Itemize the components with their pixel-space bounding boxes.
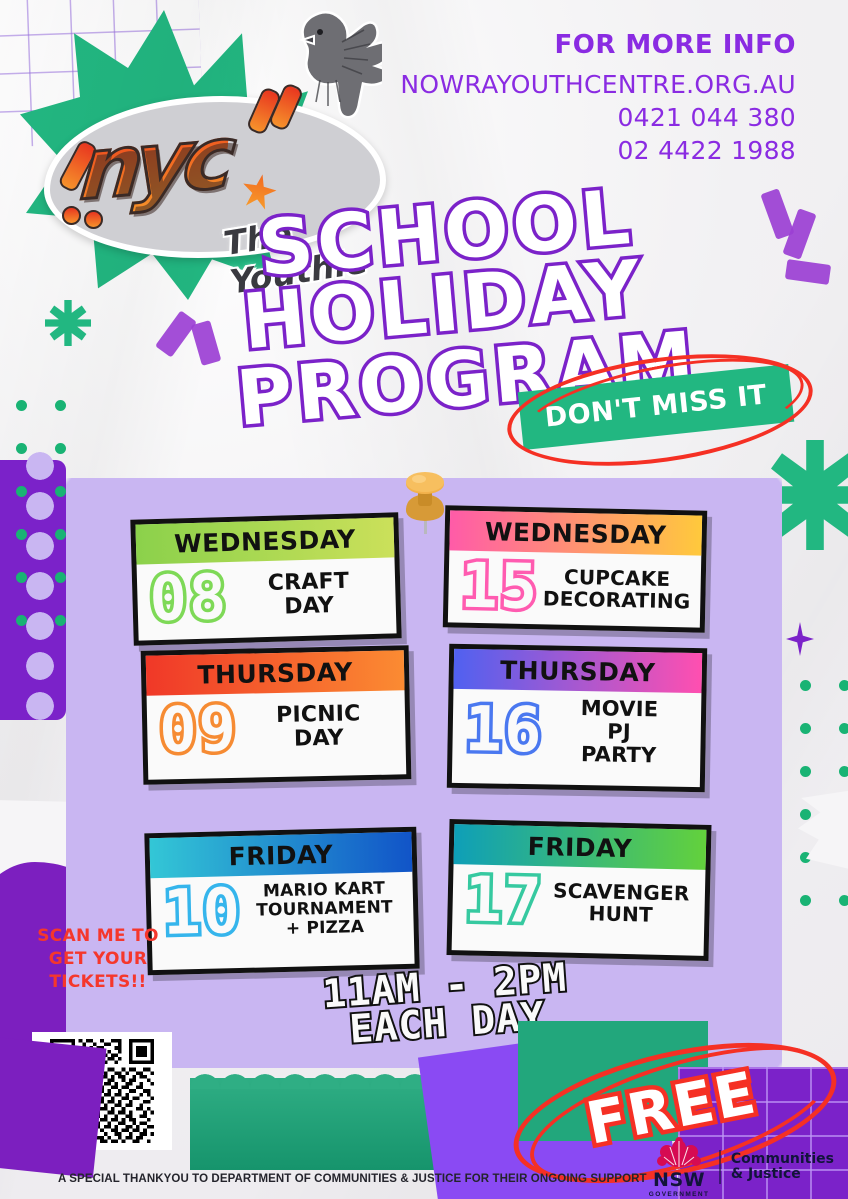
department-line-2: & Justice xyxy=(731,1167,834,1182)
event-card-body: 08 CRAFTDAY xyxy=(137,557,397,637)
event-day-label: THURSDAY xyxy=(500,655,656,687)
logo-wordmark: nyc xyxy=(77,108,232,220)
event-day-label: FRIDAY xyxy=(527,831,632,862)
event-activity: CUPCAKEDECORATING xyxy=(541,566,693,613)
pushpin-icon xyxy=(398,466,454,538)
event-card[interactable]: THURSDAY 09 PICNICDAY xyxy=(141,645,412,785)
event-card-body: 10 MARIO KARTTOURNAMENT+ PIZZA xyxy=(150,872,414,951)
event-date: 09 xyxy=(157,700,241,761)
event-activity: MOVIEPJPARTY xyxy=(545,696,694,768)
nsw-government-label: GOVERNMENT xyxy=(649,1191,710,1198)
torn-paper-decoration xyxy=(774,790,848,870)
event-card[interactable]: FRIDAY 10 MARIO KARTTOURNAMENT+ PIZZA xyxy=(144,827,419,976)
event-date: 17 xyxy=(462,870,546,931)
sparkle-icon xyxy=(786,622,814,656)
event-card[interactable]: WEDNESDAY 08 CRAFTDAY xyxy=(130,512,401,645)
department-name: Communities & Justice xyxy=(731,1152,834,1183)
event-day-label: THURSDAY xyxy=(197,657,353,689)
nsw-government-logo: NSW GOVERNMENT Communities & Justice xyxy=(649,1143,834,1191)
event-card-body: 15 CUPCAKEDECORATING xyxy=(448,550,701,628)
dot-grid-decoration xyxy=(16,400,66,626)
confetti-decoration xyxy=(155,310,197,357)
event-card[interactable]: FRIDAY 17 SCAVENGERHUNT xyxy=(446,819,711,961)
event-date: 15 xyxy=(458,557,542,618)
nsw-label: NSW xyxy=(653,1171,705,1190)
contact-heading: FOR MORE INFO xyxy=(400,30,796,60)
contact-website[interactable]: NOWRAYOUTHCENTRE.ORG.AU xyxy=(400,68,796,101)
event-activity: PICNICDAY xyxy=(239,702,397,754)
event-date: 08 xyxy=(147,568,231,629)
footer-credit: A SPECIAL THANKYOU TO DEPARTMENT OF COMM… xyxy=(58,1173,658,1185)
event-card[interactable]: WEDNESDAY 15 CUPCAKEDECORATING xyxy=(443,505,707,632)
bird-icon xyxy=(262,6,382,131)
flower-icon xyxy=(45,300,91,346)
event-card-body: 16 MOVIEPJPARTY xyxy=(452,689,701,777)
department-line-1: Communities xyxy=(731,1152,834,1167)
waratah-logo-icon xyxy=(656,1137,702,1171)
logo-divider xyxy=(719,1150,721,1184)
event-card-body: 17 SCAVENGERHUNT xyxy=(452,864,706,943)
scan-instruction: SCAN ME TO GET YOUR TICKETS!! xyxy=(28,925,168,994)
contact-phone[interactable]: 02 4422 1988 xyxy=(400,134,796,167)
event-day-label: WEDNESDAY xyxy=(174,524,356,558)
event-activity: MARIO KARTTOURNAMENT+ PIZZA xyxy=(243,879,406,939)
event-activity: CRAFTDAY xyxy=(229,569,388,622)
event-day-header: THURSDAY xyxy=(146,650,405,695)
event-day-header: FRIDAY xyxy=(149,832,412,878)
event-date: 16 xyxy=(462,700,546,760)
contact-mobile[interactable]: 0421 044 380 xyxy=(400,101,796,134)
school-holiday-program-poster: nyc The Youthie FOR MORE INFO NOWRAYOUTH… xyxy=(0,0,848,1199)
confetti-decoration xyxy=(191,320,222,366)
event-activity: SCAVENGERHUNT xyxy=(545,880,697,927)
board-scallop-edge xyxy=(776,478,796,1068)
event-day-header: THURSDAY xyxy=(453,649,702,693)
event-day-label: WEDNESDAY xyxy=(485,517,667,550)
event-card[interactable]: THURSDAY 16 MOVIEPJPARTY xyxy=(447,644,707,792)
event-day-label: FRIDAY xyxy=(228,839,333,871)
event-date: 10 xyxy=(161,882,245,943)
contact-info: FOR MORE INFO NOWRAYOUTHCENTRE.ORG.AU 04… xyxy=(400,30,796,167)
event-card-body: 09 PICNICDAY xyxy=(147,690,406,768)
